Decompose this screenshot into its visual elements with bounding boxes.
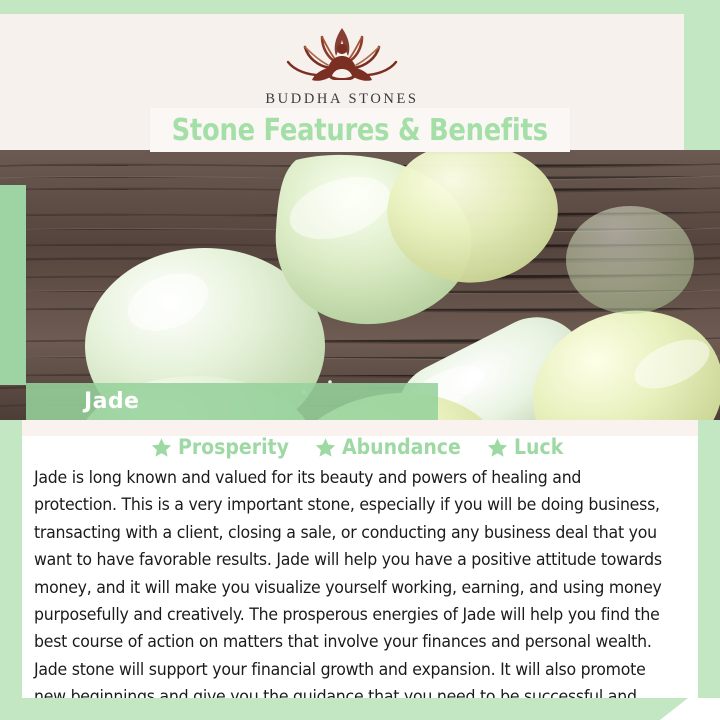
bottom-accent-band: [0, 698, 720, 720]
benefits-row: Prosperity Abundance Luck: [22, 430, 698, 464]
stone-description-text: Jade is long known and valued for its be…: [34, 464, 668, 720]
stone-benefits-infographic: BUDDHA STONES Stone Features & Benefits: [0, 0, 720, 720]
benefit-item-luck: Luck: [487, 435, 569, 459]
photo-left-accent-bar: [0, 185, 26, 385]
jade-stones-illustration: [0, 150, 720, 420]
right-accent-strip: [698, 420, 720, 535]
foot-green-taper: [660, 698, 688, 720]
benefit-item-abundance: Abundance: [315, 435, 474, 459]
benefit-item-prosperity: Prosperity: [151, 435, 301, 459]
lotus-meditation-icon: [278, 20, 406, 90]
benefit-label: Luck: [514, 435, 563, 459]
title-band: Stone Features & Benefits: [150, 108, 570, 152]
brand-wordmark: BUDDHA STONES: [265, 91, 418, 108]
benefit-label: Prosperity: [178, 435, 289, 459]
foot-green-bar: [0, 698, 660, 720]
star-icon: [315, 437, 336, 458]
star-icon: [487, 437, 508, 458]
star-icon: [151, 437, 172, 458]
stone-photo: [0, 150, 720, 420]
content-panel: Prosperity Abundance Luck Jade is long k…: [0, 420, 720, 698]
stone-name-label: Jade: [84, 389, 139, 414]
page-title: Stone Features & Benefits: [172, 113, 548, 148]
left-accent-strip: [0, 420, 22, 698]
benefit-label: Abundance: [342, 435, 461, 459]
stone-name-banner: Jade: [26, 383, 438, 420]
